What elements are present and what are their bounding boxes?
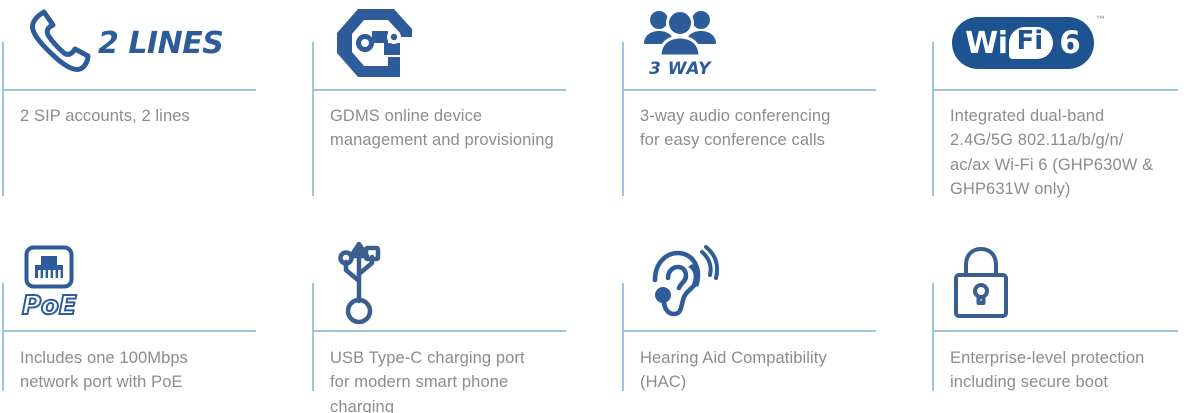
cell-horizontal-rule xyxy=(2,89,256,91)
ethernet-poe-icon xyxy=(24,245,74,289)
feature-description: Integrated dual-band 2.4G/5G 802.11a/b/g… xyxy=(950,104,1192,202)
wifi-logo-six: 6 xyxy=(1059,25,1081,61)
feature-cell-gdms: GDMS online device management and provis… xyxy=(310,0,620,210)
trademark-icon: ™ xyxy=(1096,14,1105,24)
feature-cell-wifi6: Wi Fi 6 ™ Integrated dual-band 2.4G/5G 8… xyxy=(930,0,1200,210)
cell-vertical-rule xyxy=(312,42,314,196)
cell-vertical-rule xyxy=(622,42,624,196)
icon-box xyxy=(332,0,428,86)
wifi-logo-wi: Wi xyxy=(965,26,1007,61)
feature-cell-hac: Hearing Aid Compatibility (HAC) xyxy=(620,210,930,413)
icon-badge-label: 3 WAY xyxy=(649,59,711,79)
cell-horizontal-rule xyxy=(932,330,1178,332)
feature-description: 3-way audio conferencing for easy confer… xyxy=(640,104,922,153)
cell-horizontal-rule xyxy=(622,330,876,332)
feature-description: GDMS online device management and provis… xyxy=(330,104,612,153)
feature-description: 2 SIP accounts, 2 lines xyxy=(20,104,302,128)
cell-horizontal-rule xyxy=(622,89,876,91)
icon-badge-label: 2 LINES xyxy=(98,26,223,61)
cell-horizontal-rule xyxy=(312,330,566,332)
icon-box xyxy=(952,240,1010,326)
cell-vertical-rule xyxy=(932,283,934,391)
hearing-aid-ear-icon xyxy=(642,244,720,322)
icon-box: PoE xyxy=(22,240,77,326)
feature-cell-security: Enterprise-level protection including se… xyxy=(930,210,1200,413)
feature-cell-usb-type-c: USB Type-C charging port for modern smar… xyxy=(310,210,620,413)
usb-icon xyxy=(332,241,386,325)
cell-vertical-rule xyxy=(312,283,314,391)
gdms-hexagon-icon xyxy=(332,7,428,79)
feature-description: Includes one 100Mbps network port with P… xyxy=(20,346,302,395)
feature-cell-two-lines: 2 LINES 2 SIP accounts, 2 lines xyxy=(0,0,310,210)
wifi-6-logo: Wi Fi 6 ™ xyxy=(952,17,1094,69)
cell-vertical-rule xyxy=(2,283,4,391)
feature-description: Enterprise-level protection including se… xyxy=(950,346,1192,395)
cell-vertical-rule xyxy=(2,42,4,196)
icon-box xyxy=(642,240,720,326)
icon-box xyxy=(332,240,386,326)
three-people-icon xyxy=(642,8,718,58)
wifi-logo-fi: Fi xyxy=(1009,27,1054,58)
icon-box: 2 LINES xyxy=(22,0,223,86)
cell-horizontal-rule xyxy=(932,89,1178,91)
cell-vertical-rule xyxy=(622,283,624,391)
phone-handset-icon xyxy=(22,9,92,77)
icon-badge-label: PoE xyxy=(22,291,77,321)
icon-box: 3 WAY xyxy=(642,0,718,86)
feature-description: Hearing Aid Compatibility (HAC) xyxy=(640,346,922,395)
padlock-icon xyxy=(952,245,1010,321)
feature-cell-three-way: 3 WAY 3-way audio conferencing for easy … xyxy=(620,0,930,210)
cell-vertical-rule xyxy=(932,42,934,196)
cell-horizontal-rule xyxy=(2,330,256,332)
icon-box: Wi Fi 6 ™ xyxy=(952,0,1094,86)
feature-cell-poe: PoE Includes one 100Mbps network port wi… xyxy=(0,210,310,413)
feature-description: USB Type-C charging port for modern smar… xyxy=(330,346,612,413)
cell-horizontal-rule xyxy=(312,89,566,91)
feature-grid: 2 LINES 2 SIP accounts, 2 lines GDMS onl… xyxy=(0,0,1200,413)
